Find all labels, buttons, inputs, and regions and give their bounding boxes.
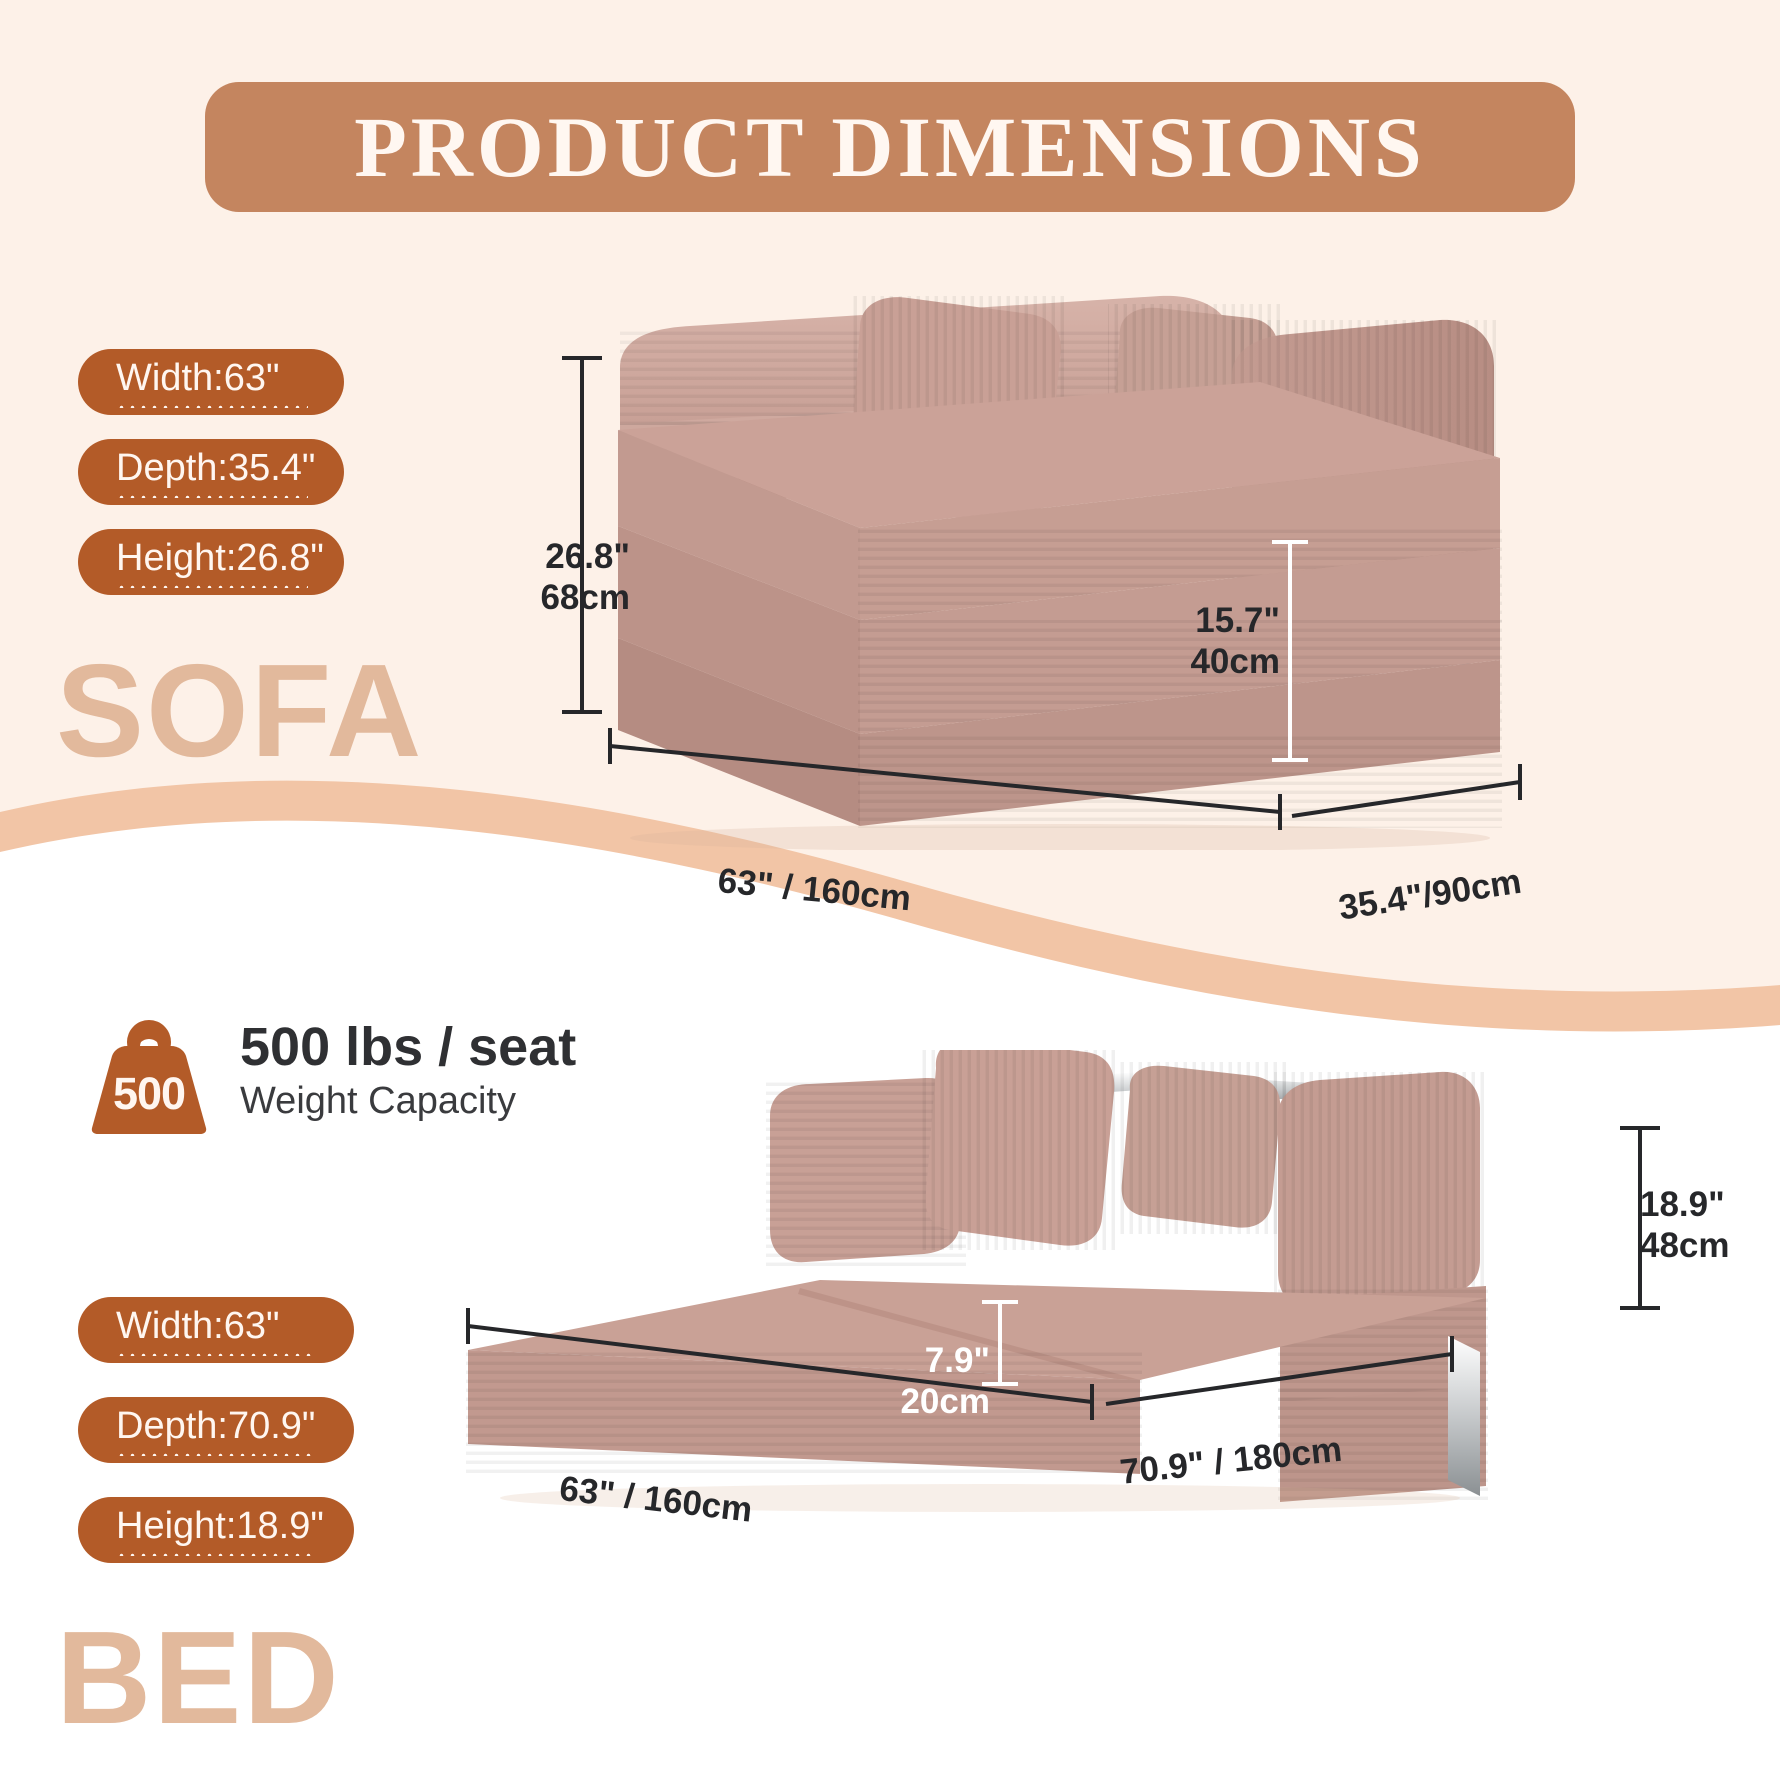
bed-spec-depth: Depth:70.9"	[78, 1397, 354, 1463]
sofa-seat-cm: 40cm	[1190, 642, 1280, 681]
bed-spec-depth-label: Depth:70.9"	[116, 1404, 316, 1448]
weight-icon-number: 500	[84, 1068, 214, 1120]
weight-icon: 500	[84, 1016, 214, 1134]
sofa-height-dimension: 26.8" 68cm	[520, 536, 630, 618]
sofa-dimension-lines	[520, 330, 1740, 950]
bed-height-dimension: 18.9" 48cm	[1640, 1184, 1760, 1266]
bed-mattress-cm: 20cm	[900, 1382, 990, 1421]
sofa-spec-height: Height:26.8"	[78, 529, 344, 595]
bed-dimension-lines	[440, 1090, 1760, 1650]
sofa-heading: SOFA	[56, 645, 423, 777]
bed-mattress-inches: 7.9"	[925, 1341, 990, 1380]
sofa-height-cm: 68cm	[540, 578, 630, 617]
page-title: PRODUCT DIMENSIONS	[354, 104, 1426, 190]
infographic-canvas: PRODUCT DIMENSIONS Width:63" Depth:35.4"…	[0, 0, 1780, 1780]
dotted-underline	[116, 403, 308, 408]
dotted-underline	[116, 1451, 316, 1456]
sofa-seat-height-dimension: 15.7" 40cm	[1150, 600, 1280, 682]
dotted-underline	[116, 1551, 316, 1556]
sofa-spec-width: Width:63"	[78, 349, 344, 415]
bed-spec-height-label: Height:18.9"	[116, 1504, 324, 1548]
sofa-spec-depth-label: Depth:35.4"	[116, 446, 315, 490]
page-title-banner: PRODUCT DIMENSIONS	[205, 82, 1575, 212]
sofa-spec-height-label: Height:26.8"	[116, 536, 324, 580]
dotted-underline	[116, 1351, 316, 1356]
bed-spec-width-label: Width:63"	[116, 1304, 316, 1348]
bed-spec-height: Height:18.9"	[78, 1497, 354, 1563]
bed-height-cm: 48cm	[1640, 1226, 1730, 1265]
dotted-underline	[116, 583, 308, 588]
sofa-spec-width-label: Width:63"	[116, 356, 308, 400]
bed-mattress-dimension: 7.9" 20cm	[880, 1340, 990, 1422]
dotted-underline	[116, 493, 308, 498]
bed-height-inches: 18.9"	[1640, 1185, 1725, 1224]
sofa-seat-inches: 15.7"	[1195, 601, 1280, 640]
sofa-spec-depth: Depth:35.4"	[78, 439, 344, 505]
bed-spec-width: Width:63"	[78, 1297, 354, 1363]
bed-heading: BED	[56, 1612, 341, 1744]
sofa-height-inches: 26.8"	[545, 537, 630, 576]
